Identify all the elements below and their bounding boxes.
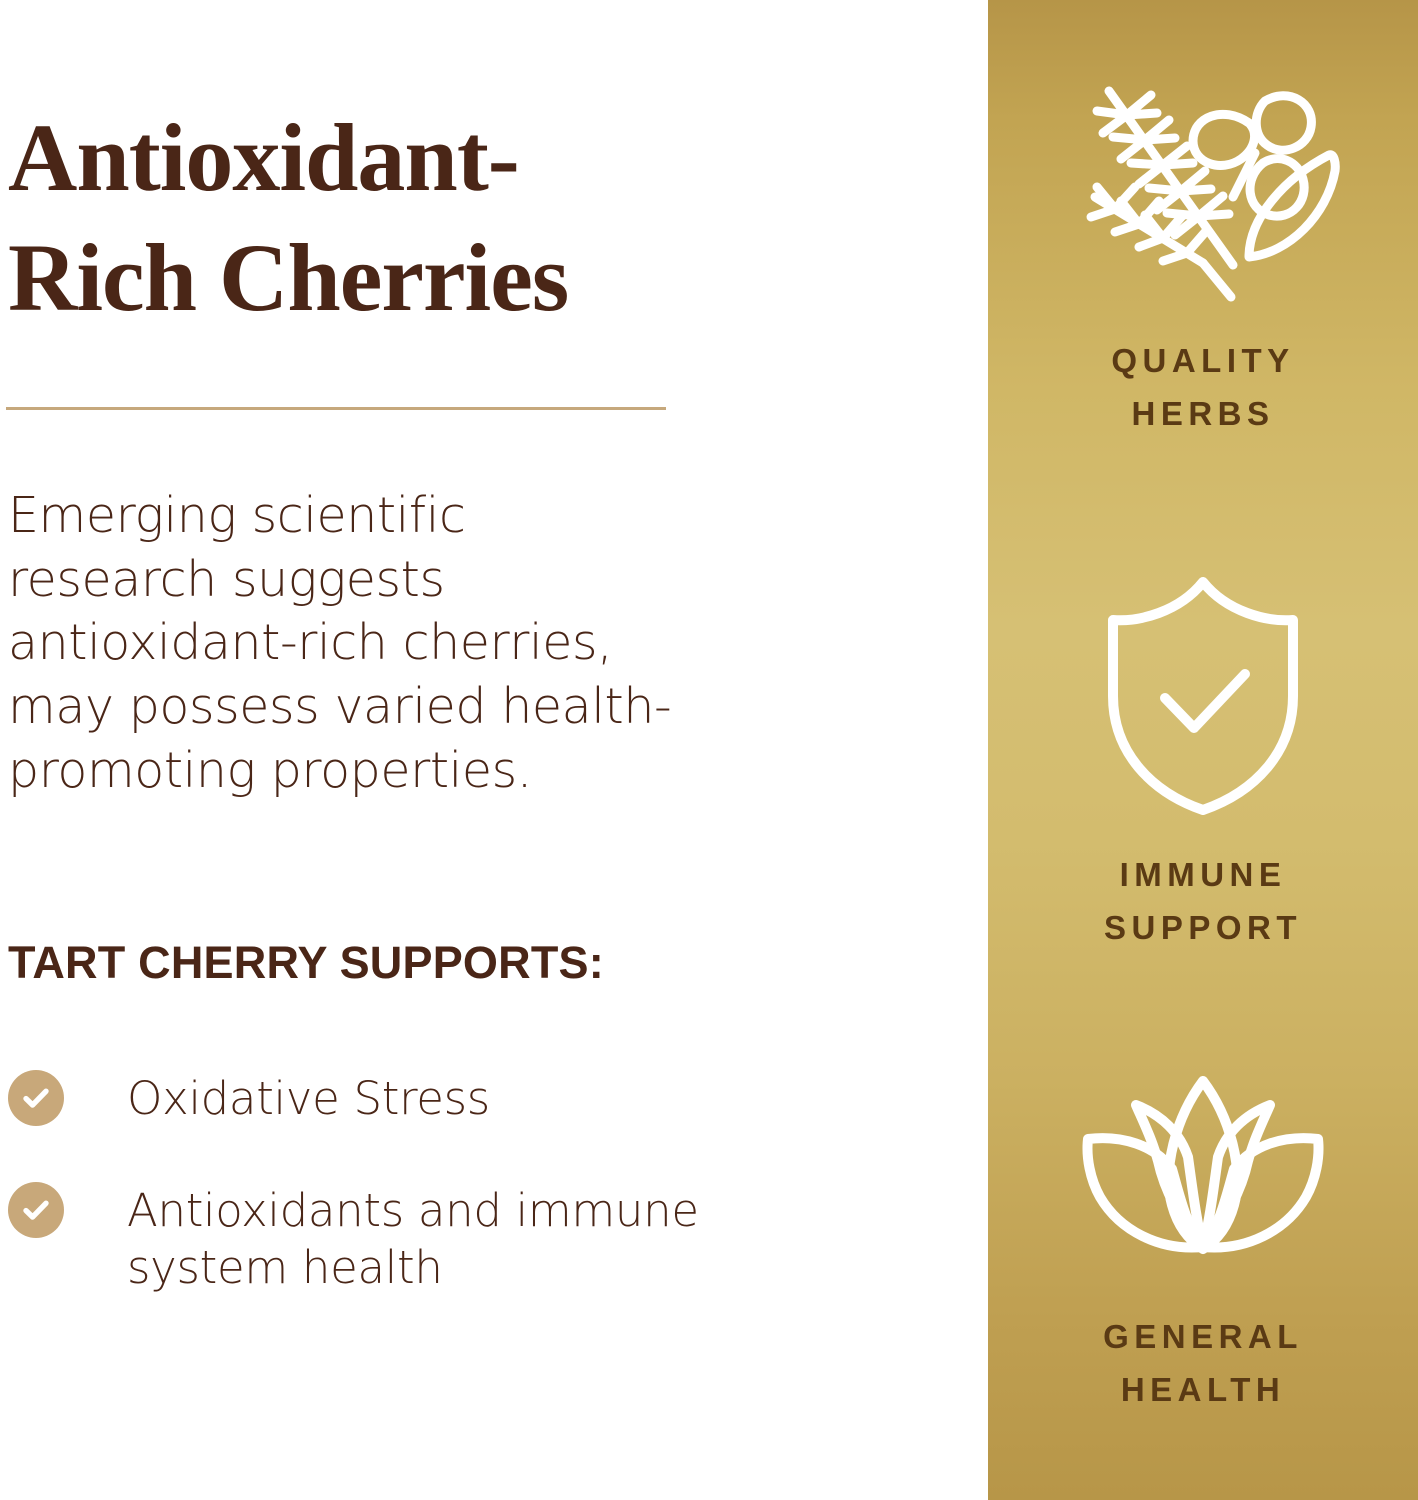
supports-list: Oxidative Stress Antioxidants and immune… — [8, 1068, 768, 1349]
features-sidebar: QUALITY HERBS IMMUNE SUPPORT — [988, 0, 1418, 1500]
sidebar-feature-label: QUALITY HERBS — [988, 312, 1418, 441]
sidebar-feature-label: GENERAL HEALTH — [988, 1280, 1418, 1417]
lotus-flower-icon — [988, 1050, 1418, 1280]
sidebar-feature-immune-support: IMMUNE SUPPORT — [988, 560, 1418, 955]
list-item: Antioxidants and immune system health — [8, 1180, 768, 1297]
sidebar-feature-quality-herbs: QUALITY HERBS — [988, 62, 1418, 441]
left-content-column: Antioxidant- Rich Cherries Emerging scie… — [0, 0, 988, 1500]
shield-check-icon — [988, 560, 1418, 830]
sidebar-feature-general-health: GENERAL HEALTH — [988, 1050, 1418, 1417]
check-circle-icon — [8, 1182, 64, 1238]
page-title: Antioxidant- Rich Cherries — [8, 98, 868, 338]
list-item-label: Oxidative Stress — [127, 1068, 768, 1128]
list-item-label: Antioxidants and immune system health — [127, 1180, 768, 1297]
sidebar-feature-label: IMMUNE SUPPORT — [988, 830, 1418, 955]
check-circle-icon — [8, 1070, 64, 1126]
supports-heading: TART CHERRY SUPPORTS: — [8, 938, 604, 988]
title-divider-rule — [6, 407, 666, 410]
herb-sprig-icon — [988, 62, 1418, 312]
product-benefits-graphic: Antioxidant- Rich Cherries Emerging scie… — [0, 0, 1418, 1500]
list-item: Oxidative Stress — [8, 1068, 768, 1128]
intro-paragraph: Emerging scientific research suggests an… — [8, 484, 768, 802]
